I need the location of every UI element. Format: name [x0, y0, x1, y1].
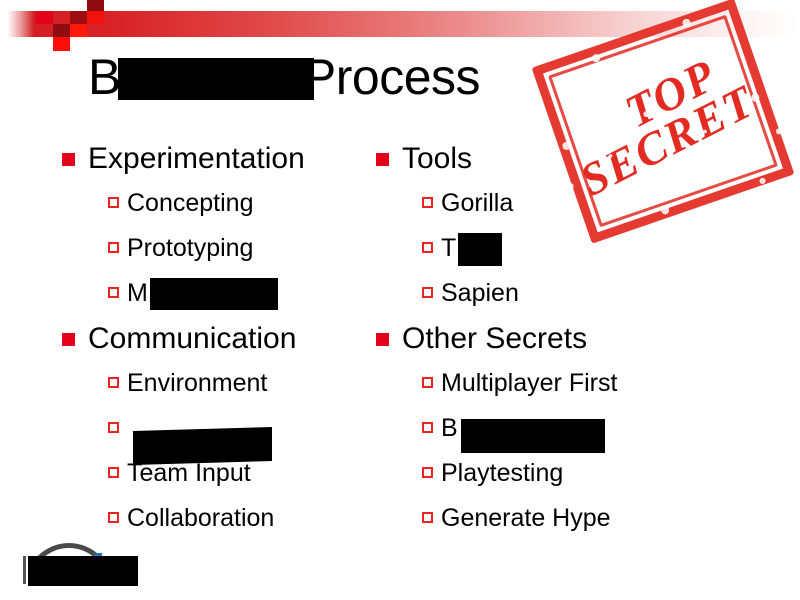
bullet-level1-label: Other Secrets — [402, 318, 587, 360]
bullet-level2[interactable]: Gorilla — [422, 181, 706, 226]
redaction-footer-logo — [28, 556, 138, 586]
bullet-level2[interactable]: Generate Hype — [422, 496, 706, 541]
bullet-level2-label: Generate Hype — [441, 496, 611, 541]
bullet-level2[interactable]: Sapien — [422, 271, 706, 316]
bullet-group: ToolsGorillaT Sapien — [376, 138, 706, 316]
hollow-square-bullet-icon — [422, 467, 433, 478]
hollow-square-bullet-icon — [108, 377, 119, 388]
bullet-level1-label: Tools — [402, 138, 472, 180]
bullet-level2[interactable]: Collaboration — [108, 496, 392, 541]
bullet-level2[interactable]: Environment — [108, 361, 392, 406]
redaction-tools-2 — [458, 233, 502, 266]
checker-square-5 — [87, 0, 104, 11]
hollow-square-bullet-icon — [108, 512, 119, 523]
hollow-square-bullet-icon — [108, 287, 119, 298]
bullet-level2-label: Collaboration — [127, 496, 274, 541]
filled-square-bullet-icon — [62, 153, 75, 166]
filled-square-bullet-icon — [376, 153, 389, 166]
redaction-title — [118, 58, 314, 100]
redaction-other-secrets-2 — [461, 419, 605, 453]
header-gradient-band — [0, 11, 800, 37]
hollow-square-bullet-icon — [422, 422, 433, 433]
hollow-square-bullet-icon — [108, 242, 119, 253]
redaction-communication-2 — [133, 427, 272, 465]
bullet-level1-label: Experimentation — [88, 138, 305, 180]
bullet-level2-label: Playtesting — [441, 451, 563, 496]
bullet-level2-label: Environment — [127, 361, 267, 406]
hollow-square-bullet-icon — [422, 197, 433, 208]
checker-square-3 — [36, 11, 53, 24]
bullet-level2[interactable]: Multiplayer First — [422, 361, 706, 406]
hollow-square-bullet-icon — [108, 422, 119, 433]
bullet-level1-label: Communication — [88, 318, 296, 360]
bullet-level2-label: Gorilla — [441, 181, 513, 226]
filled-square-bullet-icon — [376, 333, 389, 346]
stamp-line-1: TOP — [619, 53, 723, 135]
redaction-methods — [150, 278, 278, 310]
checker-square-8 — [70, 24, 87, 37]
filled-square-bullet-icon — [62, 333, 75, 346]
left-column: ExperimentationConceptingPrototypingM sC… — [62, 138, 392, 543]
bullet-level1[interactable]: Tools — [376, 138, 706, 180]
hollow-square-bullet-icon — [422, 377, 433, 388]
hollow-square-bullet-icon — [422, 242, 433, 253]
bullet-level1[interactable]: Experimentation — [62, 138, 392, 180]
slide-canvas: B e’s Process TOP SECRET Experimentation… — [0, 0, 800, 600]
logo-stem-icon — [23, 556, 26, 584]
bullet-level2-label: Concepting — [127, 181, 253, 226]
checker-square-9 — [53, 37, 70, 51]
bullet-level1[interactable]: Communication — [62, 318, 392, 360]
bullet-level1[interactable]: Other Secrets — [376, 318, 706, 360]
bullet-level2-label: Sapien — [441, 271, 519, 316]
hollow-square-bullet-icon — [422, 287, 433, 298]
bullet-level2[interactable]: Prototyping — [108, 226, 392, 271]
right-column: ToolsGorillaT SapienOther SecretsMultipl… — [376, 138, 706, 543]
bullet-level2-label: Multiplayer First — [441, 361, 617, 406]
checker-square-6 — [87, 11, 104, 24]
bullet-level2-label: Prototyping — [127, 226, 253, 271]
checker-square-4 — [70, 11, 87, 24]
hollow-square-bullet-icon — [422, 512, 433, 523]
hollow-square-bullet-icon — [108, 467, 119, 478]
bullet-level2[interactable]: Playtesting — [422, 451, 706, 496]
checker-square-7 — [53, 24, 70, 37]
band-left-fade — [0, 0, 34, 48]
bullet-level2[interactable]: Concepting — [108, 181, 392, 226]
hollow-square-bullet-icon — [108, 197, 119, 208]
